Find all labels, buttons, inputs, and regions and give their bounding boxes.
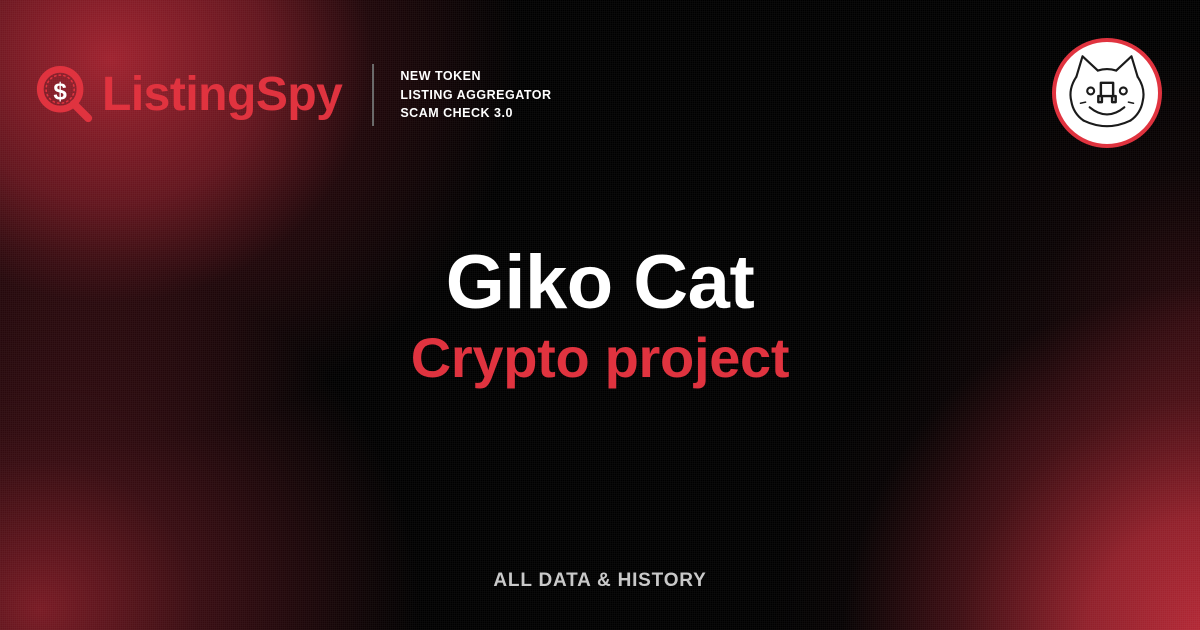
header: $ ListingSpy NEW TOKEN LISTING AGGREGATO… — [0, 0, 1200, 175]
page-subtitle: Crypto project — [411, 328, 790, 387]
footer-tagline: ALL DATA & HISTORY — [493, 570, 706, 591]
magnifier-dollar-icon: $ — [34, 64, 96, 126]
brand-name: ListingSpy — [102, 71, 342, 119]
brand-tagline: NEW TOKEN LISTING AGGREGATOR SCAM CHECK … — [400, 68, 551, 122]
brand-tagline-line-1: NEW TOKEN — [400, 68, 551, 85]
og-share-card: $ ListingSpy NEW TOKEN LISTING AGGREGATO… — [0, 0, 1200, 630]
footer: ALL DATA & HISTORY — [0, 570, 1200, 592]
brand-tagline-line-3: SCAM CHECK 3.0 — [400, 105, 551, 122]
giko-cat-avatar[interactable] — [1052, 38, 1162, 148]
page-title: Giko Cat — [446, 243, 755, 322]
brand-logo[interactable]: $ ListingSpy NEW TOKEN LISTING AGGREGATO… — [34, 55, 551, 135]
brand-tagline-line-2: LISTING AGGREGATOR — [400, 87, 551, 104]
brand-divider — [372, 64, 374, 126]
svg-text:$: $ — [53, 78, 67, 105]
